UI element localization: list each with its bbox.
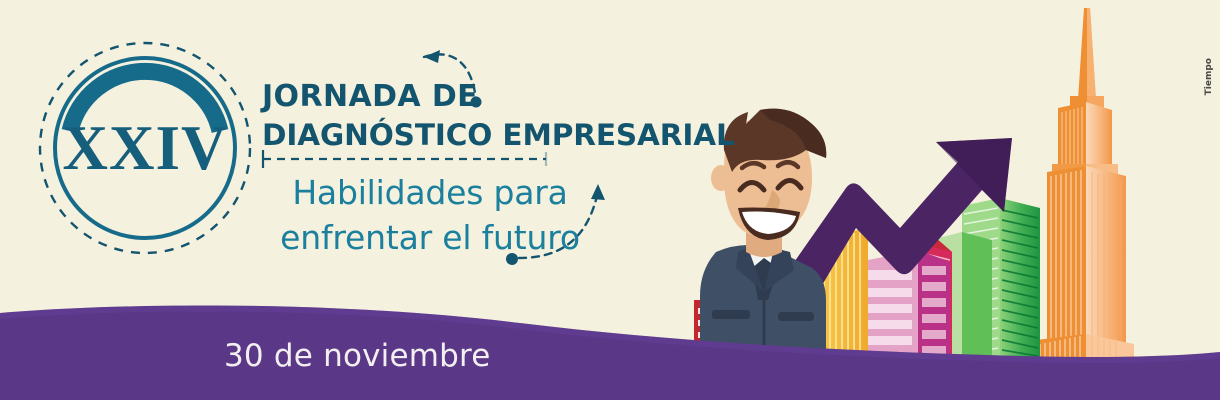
event-date: 30 de noviembre: [224, 338, 491, 374]
headline-line-2: DIAGNÓSTICO EMPRESARIAL: [262, 116, 732, 154]
logo-inner-ring: [55, 58, 235, 238]
headline-block: JORNADA DE DIAGNÓSTICO EMPRESARIAL Habil…: [262, 78, 732, 260]
event-logo: XXIV: [30, 28, 260, 268]
headline-line-1: JORNADA DE: [262, 78, 732, 116]
subtitle-block: Habilidades para enfrentar el futuro: [270, 170, 732, 260]
subtitle-line-1: Habilidades para: [270, 170, 590, 215]
subtitle-line-2: enfrentar el futuro: [270, 215, 590, 260]
logo-top-arc: [70, 71, 220, 131]
watermark-text: Tiempo: [1204, 58, 1214, 95]
logo-rings: [30, 28, 260, 268]
event-banner: XXIV JORNADA DE DIAGNÓSTICO EMPRESARIAL …: [0, 0, 1220, 400]
